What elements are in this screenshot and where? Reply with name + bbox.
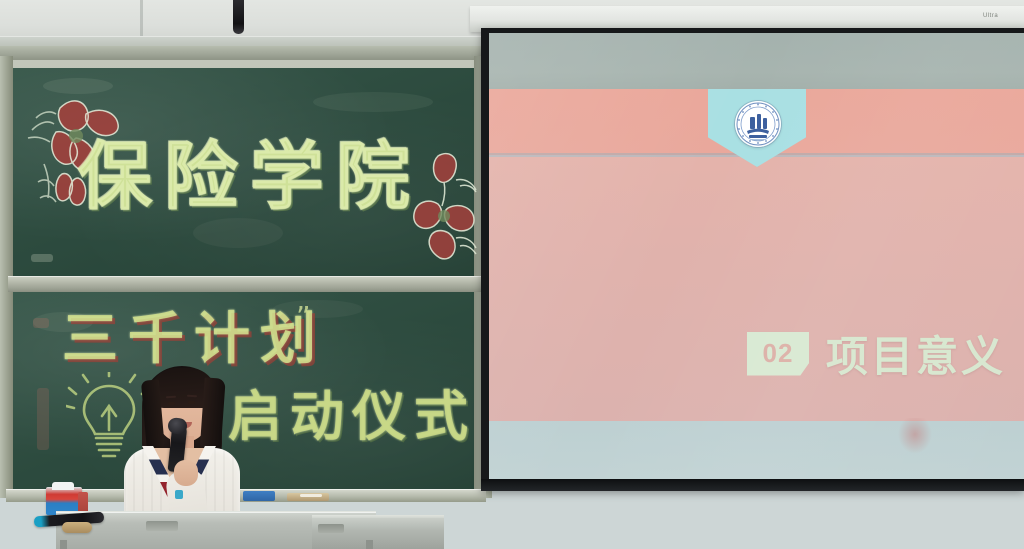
chalkboard-eraser [62,522,92,533]
lapel-pin [175,490,183,499]
housing-brand-label: Ultra [983,13,998,19]
chalk-stick [300,494,322,497]
blackboard-headline: 保险学院 [78,140,418,214]
slide-footer-band [489,421,1024,485]
lecture-desk-right [312,518,444,549]
blackboard-top-ledge [0,46,492,60]
university-badge [708,89,806,167]
eye-right [188,401,195,404]
section-number: 02 [763,338,794,369]
section-title: 项目意义 [826,323,1006,384]
slide-section-heading: 02 项目意义 [747,323,1006,384]
hand-holding-mic [174,460,198,486]
blackboard-divider [8,276,484,292]
eye-left [168,402,175,405]
chalk-smudge [313,92,433,112]
tissue-sheet [52,482,74,490]
screen-smudge [898,418,932,454]
desk-leg [60,540,67,549]
blackboard-line-1: 三千计划 [62,312,392,368]
chalk-smudge [31,254,53,262]
desk-cable-slot [146,521,178,531]
desk-leg [366,540,373,549]
classroom-scene: 保险学院 三千计划 ” 启动仪式 Ultra [0,0,1024,549]
blackboard-quote-mark: ” [296,300,311,333]
projector-screen-surface: 02 项目意义 [489,33,1024,485]
blue-chalk-box [243,491,275,501]
section-number-chip: 02 [747,332,809,376]
university-seal-icon [735,101,781,147]
chalk-smudge [37,388,49,450]
chalk-smudge [193,218,283,248]
slide-band-grey [489,33,1024,89]
screen-bottom-bar [481,479,1024,491]
blackboard-line-2: 启动仪式 [228,390,478,444]
suspended-microphone-icon [233,0,244,34]
chalk-smudge [33,318,49,328]
desk-cable-slot-right [318,524,344,533]
